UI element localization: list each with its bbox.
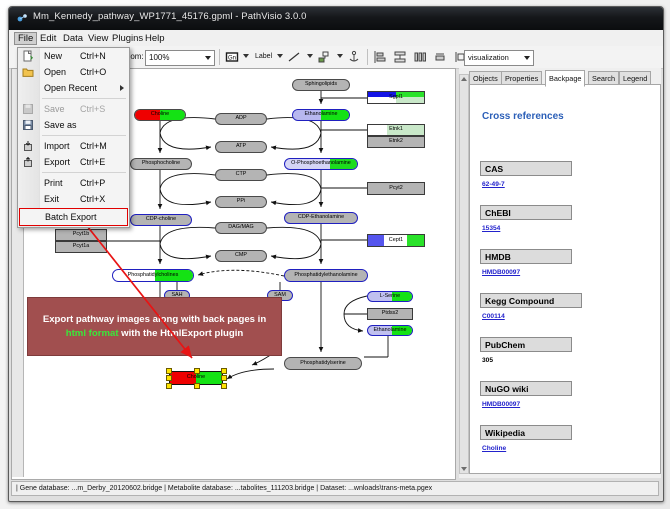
node-label: Etnk2: [389, 139, 403, 144]
interaction-dropdown-icon[interactable]: [337, 54, 343, 58]
anchor-icon[interactable]: [347, 50, 361, 64]
new-document-icon: [22, 50, 34, 62]
node-label: Pcyt2: [389, 186, 402, 191]
resize-handle-s[interactable]: [194, 383, 200, 389]
line-dropdown-icon[interactable]: [307, 54, 313, 58]
node-o-phosphoethanolamine[interactable]: O-Phosphoethanolamine: [284, 158, 358, 170]
callout-text-highlight: html format: [66, 328, 119, 339]
group-icon[interactable]: [433, 50, 447, 64]
callout-text-before: Export pathway images along with back pa…: [43, 314, 266, 325]
file-menu-item-export[interactable]: Export Ctrl+E: [18, 154, 129, 170]
node-label: Pcyt1a: [73, 244, 89, 249]
node-label: Phosphatidylethanolamine: [294, 273, 357, 278]
tab-legend[interactable]: Legend: [619, 71, 651, 85]
xref-header-nugo-wiki: NuGO wiki: [480, 381, 572, 396]
node-fill-right: [407, 235, 424, 246]
file-menu-item-open[interactable]: Open Ctrl+O: [18, 64, 129, 80]
file-menu-item-save[interactable]: Save Ctrl+S: [18, 101, 129, 117]
node-phosphatidylcholines[interactable]: Phosphatidylcholines: [112, 269, 194, 282]
window-title-bar: Mm_Kennedy_pathway_WP1771_45176.gpml - P…: [9, 7, 663, 31]
file-menu-print-label: Print: [44, 175, 63, 191]
node-phosphocholine[interactable]: Phosphocholine: [130, 158, 192, 170]
node-cept1[interactable]: Cept1: [367, 234, 425, 247]
file-menu-new-label: New: [44, 48, 62, 64]
desktop-frame: Mm_Kennedy_pathway_WP1771_45176.gpml - P…: [0, 0, 670, 509]
xref-value-wikipedia[interactable]: Choline: [482, 445, 506, 452]
pathvisio-app-icon: [16, 12, 28, 24]
node-atp[interactable]: ATP: [215, 141, 267, 153]
chevron-down-icon: [205, 56, 211, 60]
file-menu-item-new[interactable]: New Ctrl+N: [18, 48, 129, 64]
tab-objects[interactable]: Objects: [469, 71, 502, 85]
file-menu-save-label: Save: [44, 101, 65, 117]
node-pcyt1a[interactable]: Pcyt1a: [55, 241, 107, 253]
file-menu-dropdown[interactable]: New Ctrl+N Open Ctrl+O Open Recent Save …: [17, 47, 130, 228]
node-ethanolamine-2[interactable]: Ethanolamine: [367, 325, 413, 336]
side-panel-tabstrip: Objects Properties Backpage Search Legen…: [469, 70, 661, 85]
file-menu-item-open-recent[interactable]: Open Recent: [18, 80, 129, 96]
file-menu-separator-1: [42, 98, 126, 99]
cross-references-title: Cross references: [482, 111, 564, 122]
xref-header-pubchem: PubChem: [480, 337, 572, 352]
node-pcyt2[interactable]: Pcyt2: [367, 182, 425, 195]
status-bar: | Gene database: ...m_Derby_20120602.bri…: [11, 481, 659, 496]
datanode-icon[interactable]: Gn: [225, 50, 239, 64]
menu-file[interactable]: File: [14, 32, 37, 45]
resize-handle-n[interactable]: [194, 368, 200, 374]
file-menu-open-label: Open: [44, 64, 66, 80]
node-label: O-Phosphoethanolamine: [291, 161, 351, 166]
node-phosphatidylserine[interactable]: Phosphatidylserine: [284, 357, 362, 370]
node-label: Phosphocholine: [142, 161, 180, 166]
menu-edit[interactable]: Edit: [36, 32, 60, 45]
save-disk-icon: [22, 103, 34, 115]
node-label: Phosphatidylserine: [300, 361, 346, 366]
menu-bar: File Edit Data View Plugins Help: [9, 30, 663, 47]
tab-properties[interactable]: Properties: [501, 71, 542, 85]
node-ctp[interactable]: CTP: [215, 169, 267, 181]
import-icon: [22, 140, 34, 152]
file-menu-batch-export-label: Batch Export: [45, 209, 97, 225]
node-label: DAG/MAG: [228, 225, 253, 230]
xref-header-cas: CAS: [480, 161, 572, 176]
tab-backpage[interactable]: Backpage: [545, 70, 585, 87]
file-menu-item-save-as[interactable]: Save as: [18, 117, 129, 133]
pathvisio-window: Mm_Kennedy_pathway_WP1771_45176.gpml - P…: [8, 6, 664, 502]
svg-text:Gn: Gn: [228, 56, 236, 62]
stack-icon[interactable]: [393, 50, 407, 64]
node-label: Ethanolamine: [305, 112, 338, 117]
node-sgpl1[interactable]: Sgpl1: [367, 91, 425, 104]
datanode-dropdown-icon[interactable]: [243, 54, 249, 58]
align-icon[interactable]: [373, 50, 387, 64]
xref-value-nugo-wiki[interactable]: HMDB00097: [482, 401, 520, 408]
node-choline[interactable]: Choline: [134, 109, 186, 121]
annotation-callout: Export pathway images along with back pa…: [27, 297, 282, 356]
node-cdp-ethanolamine[interactable]: CDP-Ethanolamine: [284, 212, 358, 224]
xref-header-hmdb: HMDB: [480, 249, 572, 264]
node-label: ATP: [236, 144, 246, 149]
node-ptdss2[interactable]: Ptdss2: [367, 308, 413, 320]
node-label: CTP: [236, 172, 247, 177]
file-menu-exit-label: Exit: [44, 191, 59, 207]
annotation-callout-text: Export pathway images along with back pa…: [28, 313, 281, 341]
node-label: Choline: [187, 375, 205, 380]
distribute-icon[interactable]: [413, 50, 427, 64]
node-label: CMP: [235, 253, 247, 258]
file-menu-export-label: Export: [44, 154, 70, 170]
save-as-icon: [22, 119, 34, 131]
resize-handle-w[interactable]: [166, 375, 172, 381]
file-menu-open-accel: Ctrl+O: [80, 64, 106, 80]
tab-search[interactable]: Search: [588, 71, 619, 85]
node-label: Phosphatidylcholines: [128, 273, 179, 278]
visualization-value: visualization: [468, 53, 509, 62]
node-label: Sgpl1: [389, 95, 403, 100]
node-label: Pcyt1b: [73, 232, 89, 237]
zoom-value: 100%: [149, 53, 169, 62]
node-label: PPi: [237, 199, 245, 204]
zoom-combobox[interactable]: 100%: [145, 50, 215, 66]
file-menu-item-exit[interactable]: Exit Ctrl+X: [18, 191, 129, 207]
scroll-up-arrow-icon[interactable]: [461, 77, 467, 81]
open-folder-icon: [22, 66, 34, 78]
file-menu-item-batch-export[interactable]: Batch Export: [19, 208, 128, 226]
xref-header-kegg-compound: Kegg Compound: [480, 293, 582, 308]
toolbar-separator-4: [367, 49, 368, 65]
resize-handle-e[interactable]: [221, 375, 227, 381]
node-sphingolipids[interactable]: Sphingolipids: [292, 79, 350, 91]
callout-text-after: with the HtmlExport plugin: [119, 328, 244, 339]
node-etnk2[interactable]: Etnk2: [367, 136, 425, 148]
window-title: Mm_Kennedy_pathway_WP1771_45176.gpml - P…: [33, 11, 307, 22]
node-label: Sphingolipids: [305, 82, 337, 87]
xref-value-hmdb[interactable]: HMDB00097: [482, 269, 520, 276]
file-menu-import-accel: Ctrl+M: [80, 138, 107, 154]
node-fill-left: [368, 235, 384, 246]
menu-data[interactable]: Data: [59, 32, 87, 45]
xref-value-kegg-compound[interactable]: C00114: [482, 313, 505, 320]
node-ethanolamine[interactable]: Ethanolamine: [292, 109, 350, 121]
file-menu-item-print[interactable]: Print Ctrl+P: [18, 175, 129, 191]
interaction-icon[interactable]: [317, 50, 331, 64]
node-phosphatidylethanolamine[interactable]: Phosphatidylethanolamine: [284, 269, 368, 282]
file-menu-separator-3: [42, 172, 126, 173]
visualization-combobox[interactable]: visualization: [464, 50, 534, 66]
toolbar-separator-3: [219, 49, 220, 65]
resize-handle-sw[interactable]: [166, 383, 172, 389]
node-cmp[interactable]: CMP: [215, 250, 267, 262]
side-panel-scrollbar[interactable]: [459, 74, 469, 474]
node-adp[interactable]: ADP: [215, 113, 267, 125]
line-icon[interactable]: [287, 50, 301, 64]
label-button[interactable]: Label: [255, 53, 272, 60]
node-label: Cept1: [389, 238, 403, 243]
node-label: Ptdss2: [382, 311, 398, 316]
resize-handle-ne[interactable]: [221, 368, 227, 374]
file-menu-import-label: Import: [44, 138, 70, 154]
side-panel: Objects Properties Backpage Search Legen…: [459, 68, 661, 478]
file-menu-print-accel: Ctrl+P: [80, 175, 105, 191]
chevron-right-icon: [120, 85, 124, 91]
node-label: CDP-choline: [146, 217, 176, 222]
file-menu-save-as-label: Save as: [44, 117, 77, 133]
xref-value-cas[interactable]: 62-49-7: [482, 181, 505, 188]
file-menu-separator-2: [42, 135, 126, 136]
node-label: Choline: [151, 112, 169, 117]
xref-value-chebi[interactable]: 15354: [482, 225, 500, 232]
file-menu-open-recent-label: Open Recent: [44, 80, 97, 96]
resize-handle-nw[interactable]: [166, 368, 172, 374]
scroll-down-arrow-icon[interactable]: [461, 467, 467, 471]
xref-value-pubchem: 305: [482, 357, 493, 364]
file-menu-export-accel: Ctrl+E: [80, 154, 105, 170]
status-bar-text: | Gene database: ...m_Derby_20120602.bri…: [16, 485, 432, 492]
node-label: Ethanolamine: [374, 328, 407, 333]
xref-header-chebi: ChEBI: [480, 205, 572, 220]
node-dag-mag[interactable]: DAG/MAG: [215, 222, 267, 234]
node-label: L-Serine: [380, 294, 400, 299]
xref-header-wikipedia: Wikipedia: [480, 425, 572, 440]
file-menu-new-accel: Ctrl+N: [80, 48, 106, 64]
backpage-content: Cross references CAS 62-49-7 ChEBI 15354…: [469, 84, 661, 474]
file-menu-exit-accel: Ctrl+X: [80, 191, 105, 207]
menu-help[interactable]: Help: [141, 32, 169, 45]
node-etnk1[interactable]: Etnk1: [367, 124, 425, 136]
node-label: CDP-Ethanolamine: [298, 215, 344, 220]
file-menu-save-accel: Ctrl+S: [80, 101, 105, 117]
label-dropdown-icon[interactable]: [277, 54, 283, 58]
file-menu-item-import[interactable]: Import Ctrl+M: [18, 138, 129, 154]
node-label: Etnk1: [389, 127, 403, 132]
node-cdp-choline[interactable]: CDP-choline: [130, 214, 192, 226]
export-icon: [22, 156, 34, 168]
chevron-down-icon-2: [524, 56, 530, 60]
node-label: ADP: [235, 116, 246, 121]
node-l-serine[interactable]: L-Serine: [367, 291, 413, 302]
resize-handle-se[interactable]: [221, 383, 227, 389]
node-pcyt1b[interactable]: Pcyt1b: [55, 229, 107, 241]
node-ppi[interactable]: PPi: [215, 196, 267, 208]
